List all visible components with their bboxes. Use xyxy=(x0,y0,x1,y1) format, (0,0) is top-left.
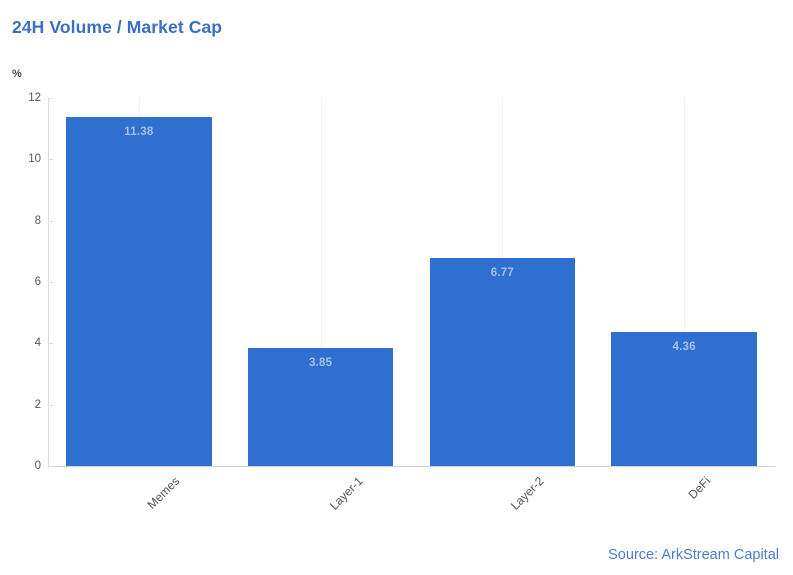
x-label-defi: DeFi xyxy=(686,474,714,502)
y-axis-unit-label: % xyxy=(12,68,22,80)
x-label-layer-2: Layer-2 xyxy=(508,474,547,513)
y-tick-label: 0 xyxy=(35,460,41,472)
y-tick-label: 10 xyxy=(28,153,41,165)
y-tick-label: 12 xyxy=(28,92,41,104)
bar-value-label: 11.38 xyxy=(66,126,211,138)
bar-value-label: 4.36 xyxy=(611,341,756,353)
bar-defi[interactable]: 4.36 xyxy=(611,332,756,466)
y-tick-mark xyxy=(48,466,53,467)
y-tick-label: 4 xyxy=(35,337,41,349)
chart-title: 24H Volume / Market Cap xyxy=(12,17,222,38)
bar-memes[interactable]: 11.38 xyxy=(66,117,211,466)
y-tick-label: 2 xyxy=(35,399,41,411)
bar-layer-1[interactable]: 3.85 xyxy=(248,348,393,466)
bar-layer-2[interactable]: 6.77 xyxy=(430,258,575,466)
x-axis-line xyxy=(48,466,775,467)
plot-area: 11.383.856.774.36 xyxy=(48,98,775,466)
source-note: Source: ArkStream Capital xyxy=(608,547,779,563)
bar-chart: 24H Volume / Market Cap % 024681012 11.3… xyxy=(0,0,793,575)
bar-value-label: 6.77 xyxy=(430,267,575,279)
x-label-layer-1: Layer-1 xyxy=(327,474,366,513)
bar-value-label: 3.85 xyxy=(248,357,393,369)
y-tick-label: 8 xyxy=(35,215,41,227)
y-tick-label: 6 xyxy=(35,276,41,288)
x-label-memes: Memes xyxy=(144,474,182,512)
